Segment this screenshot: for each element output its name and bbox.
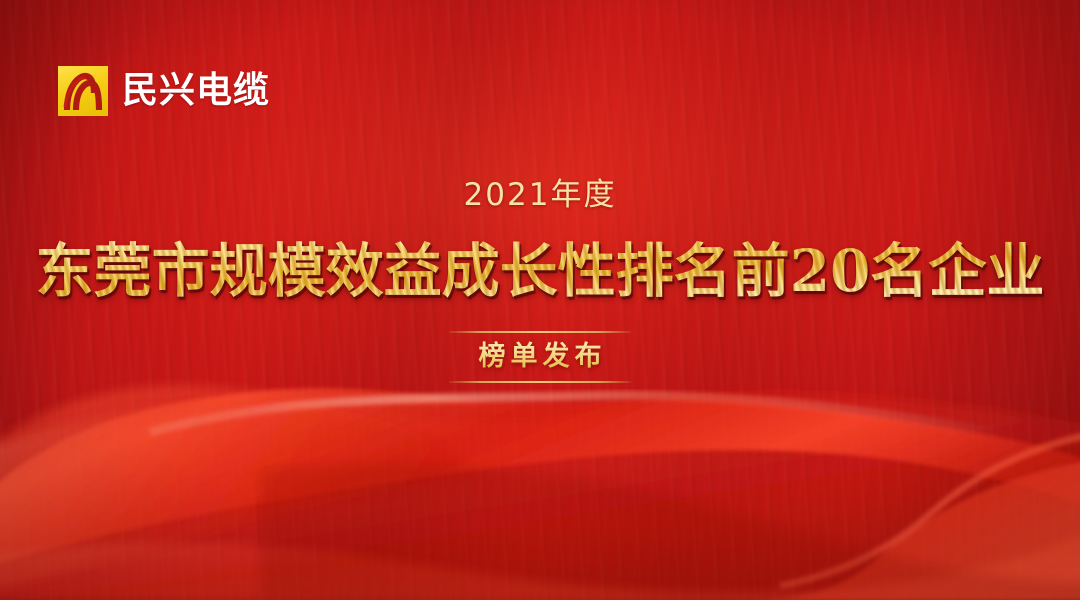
poster-canvas: 民兴电缆 2021年度 东莞市规模效益成长性排名前20名企业 东莞市规模效益成长… [0,0,1080,600]
brand-name: 民兴电缆 [122,73,270,109]
year-label: 2021年度 [0,178,1080,212]
poster-center-block: 2021年度 东莞市规模效益成长性排名前20名企业 东莞市规模效益成长性排名前2… [0,178,1080,383]
arch-bridge-logo-icon [58,66,108,116]
brand-logo[interactable]: 民兴电缆 [58,66,270,116]
subtitle-block: 榜单发布 [0,331,1080,383]
gold-divider-bottom [449,381,631,383]
headline-wrapper: 东莞市规模效益成长性排名前20名企业 东莞市规模效益成长性排名前20名企业 [0,229,1080,313]
subtitle: 榜单发布 [470,333,611,381]
page-title: 东莞市规模效益成长性排名前20名企业 [0,229,1080,313]
